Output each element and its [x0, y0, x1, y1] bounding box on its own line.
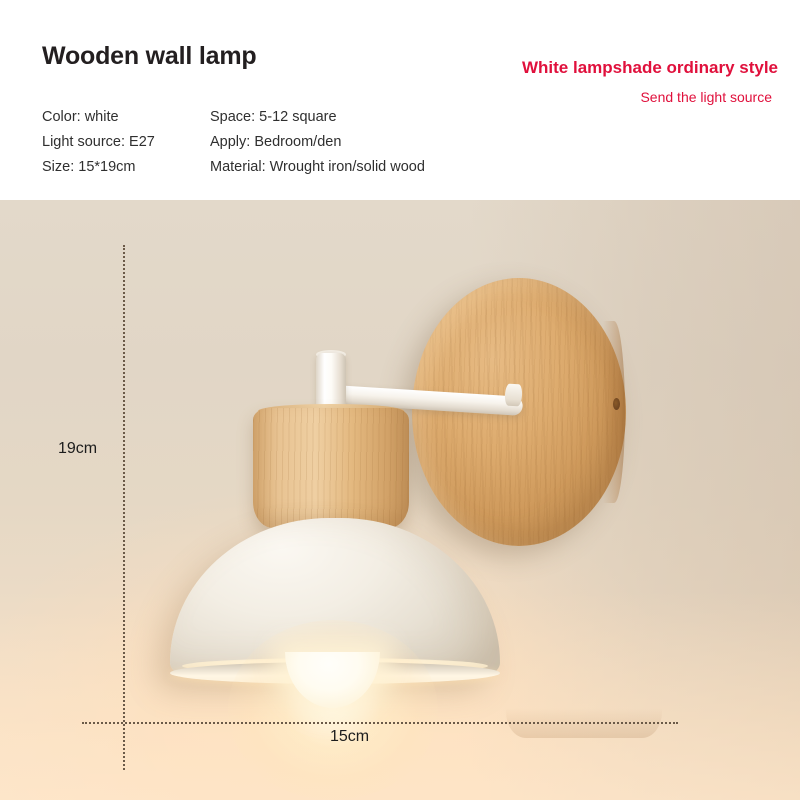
promo-subline: Send the light source [640, 89, 772, 105]
lamp-head-wood [253, 408, 409, 528]
dimension-label-height: 19cm [58, 440, 97, 458]
spec-light-source: Light source: E27 [42, 130, 155, 155]
spec-material: Material: Wrought iron/solid wood [210, 155, 425, 180]
product-listing-image: Wooden wall lamp White lampshade ordinar… [0, 0, 800, 800]
spec-color: Color: white [42, 105, 155, 130]
promo-headline: White lampshade ordinary style [522, 58, 778, 78]
dimension-guide-vertical [123, 245, 125, 770]
wood-knot [613, 398, 620, 410]
product-photo: 19cm 15cm [0, 200, 800, 800]
dimension-label-width: 15cm [330, 728, 369, 746]
bulb-glow [228, 620, 438, 800]
spec-column-right: Space: 5-12 square Apply: Bedroom/den Ma… [210, 105, 425, 180]
spec-header: Wooden wall lamp White lampshade ordinar… [0, 0, 800, 200]
spec-apply: Apply: Bedroom/den [210, 130, 425, 155]
mount-disc-edge [603, 321, 625, 503]
lamp-arm-cap [504, 383, 522, 406]
spec-space: Space: 5-12 square [210, 105, 425, 130]
spec-size: Size: 15*19cm [42, 155, 155, 180]
dimension-guide-horizontal [82, 722, 678, 724]
page-title: Wooden wall lamp [42, 42, 256, 71]
spec-column-left: Color: white Light source: E27 Size: 15*… [42, 105, 155, 180]
